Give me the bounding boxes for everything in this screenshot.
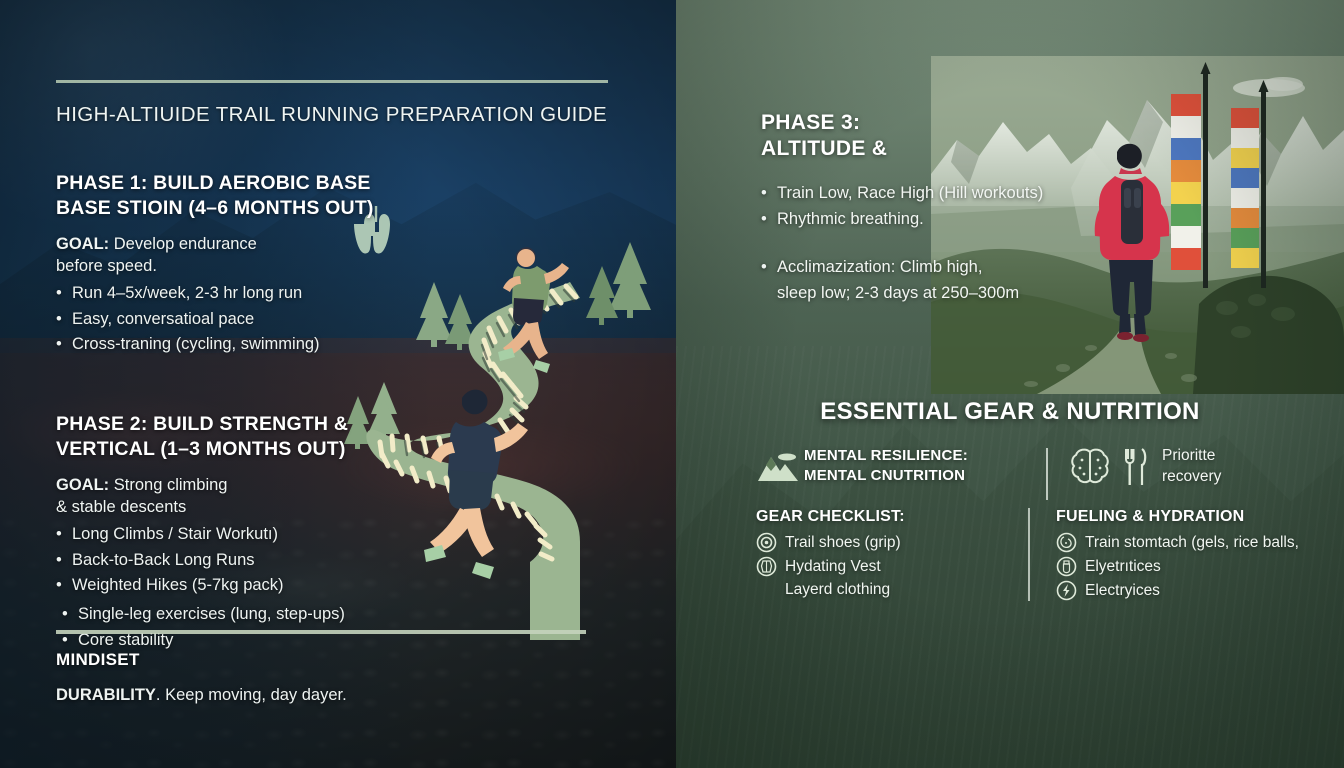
right-content: PHASE 3: ALTITUDE & Train Low, Race High… (676, 0, 1344, 768)
phase-1-goal-line2: before speed. (56, 256, 616, 278)
target-icon (756, 532, 777, 553)
mountain-icon (756, 449, 804, 483)
brain-icon (1070, 448, 1110, 486)
recovery-line2: recovery (1162, 467, 1221, 488)
recovery-text: Prioritte recovery (1162, 446, 1221, 487)
bolt-icon (1056, 580, 1077, 601)
gear-section-title: ESSENTIAL GEAR & NUTRITION (676, 398, 1344, 426)
phase-1-goal: GOAL: Develop endurance before speed. (56, 234, 616, 278)
gear-item-label: Hydating Vest (785, 557, 881, 577)
phase-2-bullets: Long Climbs / Stair Workutı) Back-to-Bac… (56, 522, 616, 599)
mental-resilience-line1: MENTAL RESILIENCE: (804, 446, 968, 466)
cutlery-icon (1124, 447, 1148, 487)
infographic-poster: HIGH-ALTIUIDE TRAIL RUNNING PREPARATION … (0, 0, 1344, 768)
gear-item-label: Trail shoes (grip) (785, 533, 901, 553)
list-item: Layerd clothing (756, 580, 1028, 600)
mental-resilience-row: MENTAL RESILIENCE: MENTAL CNUTRITION (756, 446, 1316, 502)
list-item: Back-to-Back Long Runs (56, 548, 616, 574)
phase-3-heading-line1: PHASE 3: (761, 110, 1191, 136)
gear-checklist-column: GEAR CHECKLIST: Trail shoes (grip) (756, 508, 1028, 601)
mindset-bold: DURABILITY (56, 686, 156, 704)
title-rule (56, 80, 608, 83)
mental-resilience-group: MENTAL RESILIENCE: MENTAL CNUTRITION (756, 446, 1046, 486)
phase-1-goal-label: GOAL: (56, 235, 109, 253)
phase-2-heading-line2: VERTICAL (1–3 MONTHS OUT) (56, 437, 616, 462)
mental-resilience-label: MENTAL RESILIENCE: MENTAL CNUTRITION (804, 446, 968, 486)
fueling-item-label: Elyetrıtices (1085, 557, 1161, 577)
phase-1-goal-text: Develop endurance (109, 235, 257, 253)
phase-1-block: PHASE 1: BUILD AEROBIC BASE BASE STIOIN … (56, 171, 616, 358)
list-item: Electryices (1056, 580, 1336, 601)
gear-columns: GEAR CHECKLIST: Trail shoes (grip) (756, 508, 1336, 601)
phase-3-bullets: Train Low, Race High (Hill workouts) Rhy… (761, 181, 1191, 233)
phase-1-bullets: Run 4–5x/week, 2-3 hr long run Easy, con… (56, 281, 616, 358)
phase-3-bullets-extra: Acclimazization: Climb high, (761, 255, 1191, 281)
recovery-group: Prioritte recovery (1070, 446, 1221, 487)
left-content: HIGH-ALTIUIDE TRAIL RUNNING PREPARATION … (56, 80, 616, 653)
mindset-rest: . Keep moving, day dayer. (156, 686, 347, 704)
phase-2-heading: PHASE 2: BUILD STRENGTH & VERTICAL (1–3 … (56, 412, 616, 462)
right-panel: PHASE 3: ALTITUDE & Train Low, Race High… (676, 0, 1344, 768)
list-item: Train stomtach (gels, rice balls, (1056, 532, 1336, 553)
mindset-block: MINDISET DURABILITY. Keep moving, day da… (56, 630, 616, 705)
phase-3-heading-line2: ALTITUDE & (761, 136, 1191, 162)
phase-2-goal-text: Strong climbing (109, 476, 227, 494)
phase-1-heading-line1: PHASE 1: BUILD AEROBIC BASE (56, 171, 616, 196)
list-item: Acclimazization: Climb high, (761, 255, 1191, 281)
list-item: Train Low, Race High (Hill workouts) (761, 181, 1191, 207)
phase-1-heading-line2: BASE STIOIN (4–6 MONTHS OUT) (56, 196, 616, 221)
phase-3-block: PHASE 3: ALTITUDE & Train Low, Race High… (761, 110, 1191, 306)
phase-1-heading: PHASE 1: BUILD AEROBIC BASE BASE STIOIN … (56, 171, 616, 221)
vertical-divider-top (1046, 448, 1048, 500)
gear-item-label: Layerd clothing (785, 580, 890, 600)
list-item: Hydating Vest (756, 556, 1028, 577)
phase-2-heading-line1: PHASE 2: BUILD STRENGTH & (56, 412, 616, 437)
mindset-rule (56, 630, 586, 634)
mental-resilience-line2: MENTAL CNUTRITION (804, 466, 968, 486)
phase-2-goal-line2: & stable descents (56, 497, 616, 519)
list-item: Run 4–5x/week, 2-3 hr long run (56, 281, 616, 307)
list-item: Easy, conversatioal pace (56, 307, 616, 333)
list-item: Rhythmic breathing. (761, 207, 1191, 233)
fueling-item-label: Electryices (1085, 581, 1160, 601)
fueling-heading: FUELING & HYDRATION (1056, 508, 1336, 526)
acclimatization-line2: sleep low; 2-3 days at 250–300m (761, 281, 1191, 307)
stomach-icon (1056, 532, 1077, 553)
fueling-item-label: Train stomtach (gels, rice balls, (1085, 533, 1299, 553)
acclimatization-line1: Acclimazization: Climb high, (777, 258, 982, 276)
phase-3-heading: PHASE 3: ALTITUDE & (761, 110, 1191, 163)
list-item: Cross-traning (cycling, swimming) (56, 332, 616, 358)
list-item: Single-leg exercises (lung, step-ups) (56, 602, 616, 628)
gear-checklist-heading: GEAR CHECKLIST: (756, 508, 1028, 526)
mindset-subtitle: DURABILITY. Keep moving, day dayer. (56, 686, 616, 705)
list-item: Trail shoes (grip) (756, 532, 1028, 553)
list-item: Elyetrıtices (1056, 556, 1336, 577)
recovery-line1: Prioritte (1162, 446, 1221, 467)
page-title: HIGH-ALTIUIDE TRAIL RUNNING PREPARATION … (56, 103, 616, 127)
fueling-column: FUELING & HYDRATION Train stomtach (gels… (1028, 508, 1336, 601)
phase-2-goal-label: GOAL: (56, 476, 109, 494)
list-item: Long Climbs / Stair Workutı) (56, 522, 616, 548)
vest-icon (756, 556, 777, 577)
bottle-icon (1056, 556, 1077, 577)
mindset-title: MINDISET (56, 650, 616, 670)
left-panel: HIGH-ALTIUIDE TRAIL RUNNING PREPARATION … (0, 0, 676, 768)
phase-2-goal: GOAL: Strong climbing & stable descents (56, 475, 616, 519)
list-item: Weighted Hikes (5-7kg pack) (56, 573, 616, 599)
phase-2-block: PHASE 2: BUILD STRENGTH & VERTICAL (1–3 … (56, 412, 616, 653)
